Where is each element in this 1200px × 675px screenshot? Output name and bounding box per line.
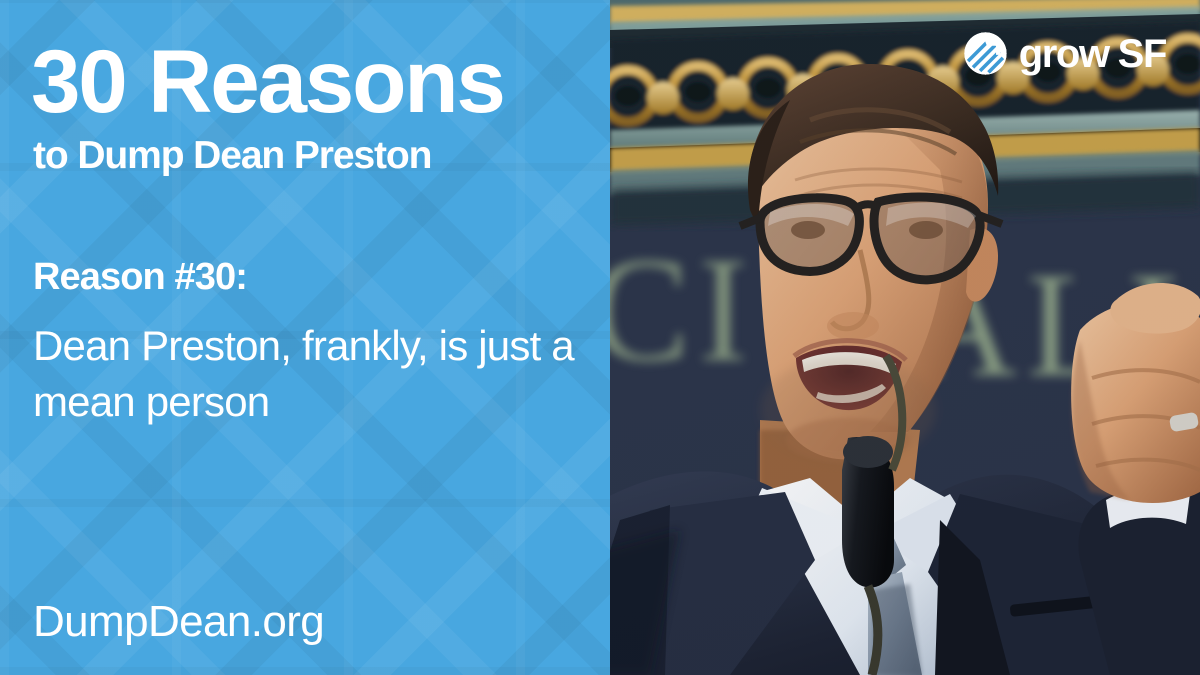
reason-body-text: Dean Preston, frankly, is just a mean pe… — [33, 318, 593, 430]
headline-subtitle: to Dump Dean Preston — [33, 134, 431, 178]
left-blue-panel: 30 Reasons to Dump Dean Preston Reason #… — [0, 0, 610, 675]
grow-sf-arrow-circle-icon — [963, 31, 1008, 76]
logo-word-grow: grow — [1019, 34, 1109, 74]
reason-number-label: Reason #30: — [33, 255, 247, 299]
social-graphic-canvas: 30 Reasons to Dump Dean Preston Reason #… — [0, 0, 1200, 675]
logo-word-sf: SF — [1118, 34, 1166, 74]
logo-wordmark: grow SF — [1019, 34, 1166, 74]
speaker-photograph: HALL CI — [610, 0, 1200, 675]
website-url[interactable]: DumpDean.org — [33, 596, 324, 648]
photo-illustration: HALL CI — [610, 0, 1200, 675]
left-panel-content: 30 Reasons to Dump Dean Preston Reason #… — [0, 0, 610, 675]
grow-sf-logo[interactable]: grow SF — [963, 31, 1166, 76]
headline-main: 30 Reasons — [31, 34, 504, 128]
